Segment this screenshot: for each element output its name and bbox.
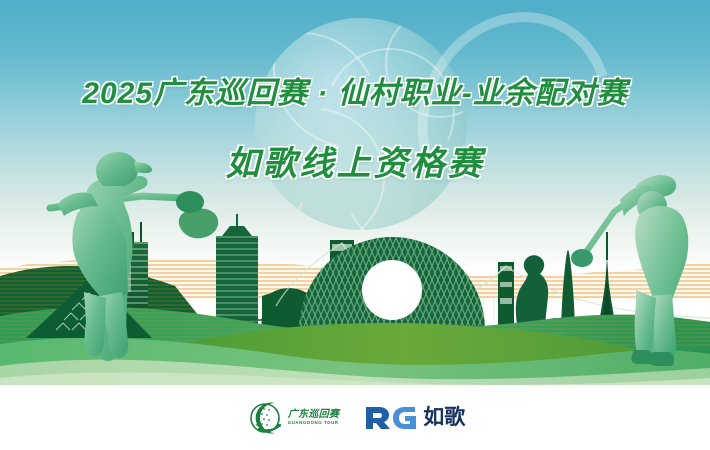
guangdong-tour-logo: 广东巡回赛 GUANGDONG TOUR [245,396,340,440]
tournament-poster: 2025广东巡回赛 · 仙村职业-业余配对赛 如歌线上资格赛 广东巡回赛 GUA… [0,0,710,450]
guangdong-tour-label-en: GUANGDONG TOUR [288,421,340,425]
footer-logo-bar: 广东巡回赛 GUANGDONG TOUR 如歌 [0,385,710,450]
guangzhou-circle-arch [295,230,491,334]
golf-ball-c-icon [245,396,285,440]
rugolf-label-cn: 如歌 [423,407,465,428]
guangdong-tour-label-cn: 广东巡回赛 [288,410,340,420]
rugolf-logo: 如歌 [365,405,465,431]
title-block: 2025广东巡回赛 · 仙村职业-业余配对赛 如歌线上资格赛 [0,0,710,185]
page-subtitle: 如歌线上资格赛 [0,136,710,185]
leaf-blob-decoration [179,208,218,238]
rg-mark-icon [365,405,417,431]
page-title: 2025广东巡回赛 · 仙村职业-业余配对赛 [0,68,710,112]
